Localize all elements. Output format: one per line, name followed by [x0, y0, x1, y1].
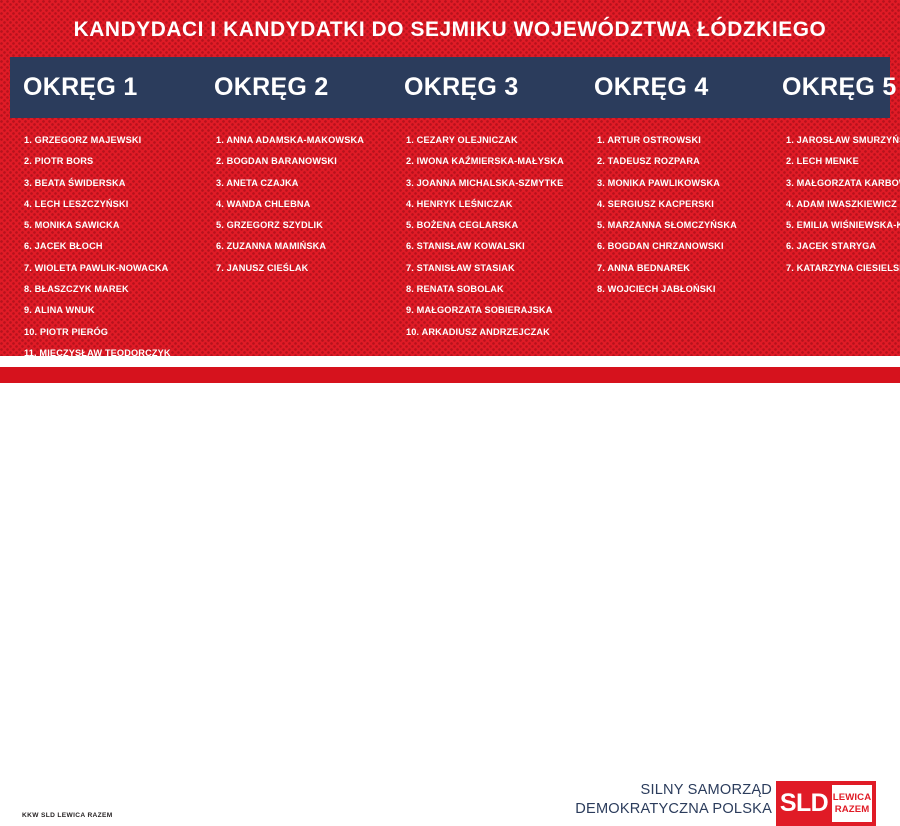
slogan-line-1: SILNY SAMORZĄD [575, 781, 772, 800]
candidate-entry: 6. JACEK BŁOCH [24, 236, 202, 257]
district-header-label: OKRĘG 5 [782, 73, 897, 102]
district-header-row: OKRĘG 1 OKRĘG 2 OKRĘG 3 OKRĘG 4 OKRĘG 5 [10, 57, 890, 118]
sld-lewica-razem-logo: SLD LEWICA RAZEM [776, 781, 876, 826]
district-header-cell-2: OKRĘG 2 [201, 73, 392, 102]
candidate-entry: 9. MAŁGORZATA SOBIERAJSKA [406, 300, 584, 321]
candidate-entry: 3. MAŁGORZATA KARBOWIAK [786, 173, 900, 194]
candidate-entry: 6. BOGDAN CHRZANOWSKI [597, 236, 775, 257]
candidate-column-3: 1. CEZARY OLEJNICZAK 2. IWONA KAŹMIERSKA… [394, 130, 584, 352]
candidate-entry: 5. EMILIA WIŚNIEWSKA-KABAT [786, 215, 900, 236]
candidate-entry: 2. PIOTR BORS [24, 151, 202, 172]
candidate-column-5: 1. JAROSŁAW SMURZYŃSKI 2. LECH MENKE 3. … [775, 130, 900, 352]
campaign-poster: KANDYDACI I KANDYDATKI DO SEJMIKU WOJEWÓ… [0, 0, 900, 449]
district-header-cell-3: OKRĘG 3 [392, 73, 582, 102]
candidate-entry: 3. JOANNA MICHALSKA-SZMYTKE [406, 173, 584, 194]
candidate-entry: 4. SERGIUSZ KACPERSKI [597, 194, 775, 215]
candidate-entry: 1. CEZARY OLEJNICZAK [406, 130, 584, 151]
candidate-entry: 6. JACEK STARYGA [786, 236, 900, 257]
candidate-entry: 7. JANUSZ CIEŚLAK [216, 258, 394, 279]
poster-title-bar: KANDYDACI I KANDYDATKI DO SEJMIKU WOJEWÓ… [0, 8, 900, 50]
candidate-entry: 6. STANISŁAW KOWALSKI [406, 236, 584, 257]
candidate-entry: 2. IWONA KAŹMIERSKA-MAŁYSKA [406, 151, 584, 172]
candidate-entry: 5. BOŻENA CEGLARSKA [406, 215, 584, 236]
committee-disclaimer: KKW SLD LEWICA RAZEM [22, 812, 113, 819]
campaign-slogan: SILNY SAMORZĄD DEMOKRATYCZNA POLSKA [575, 781, 772, 819]
candidate-entry: 1. ARTUR OSTROWSKI [597, 130, 775, 151]
logo-razem-text: RAZEM [835, 804, 870, 816]
red-accent-stripe [0, 367, 900, 383]
logo-lewica-razem-box: LEWICA RAZEM [832, 785, 872, 822]
candidate-entry: 4. LECH LESZCZYŃSKI [24, 194, 202, 215]
candidate-entry: 7. KATARZYNA CIESIELSKA [786, 258, 900, 279]
candidate-entry: 7. ANNA BEDNAREK [597, 258, 775, 279]
candidate-entry: 1. GRZEGORZ MAJEWSKI [24, 130, 202, 151]
candidate-entry: 9. ALINA WNUK [24, 300, 202, 321]
white-separator [0, 356, 900, 367]
logo-sld-text: SLD [776, 781, 832, 826]
candidate-entry: 5. GRZEGORZ SZYDLIK [216, 215, 394, 236]
candidate-entry: 1. ANNA ADAMSKA-MAKOWSKA [216, 130, 394, 151]
district-header-label: OKRĘG 2 [214, 73, 329, 102]
candidate-column-1: 1. GRZEGORZ MAJEWSKI 2. PIOTR BORS 3. BE… [10, 130, 202, 352]
candidate-entry: 5. MARZANNA SŁOMCZYŃSKA [597, 215, 775, 236]
candidate-entry: 4. WANDA CHLEBNA [216, 194, 394, 215]
candidate-entry: 7. STANISŁAW STASIAK [406, 258, 584, 279]
candidate-entry: 3. ANETA CZAJKA [216, 173, 394, 194]
candidate-entry: 3. MONIKA PAWLIKOWSKA [597, 173, 775, 194]
candidate-entry: 6. ZUZANNA MAMIŃSKA [216, 236, 394, 257]
candidate-entry: 2. BOGDAN BARANOWSKI [216, 151, 394, 172]
candidate-column-4: 1. ARTUR OSTROWSKI 2. TADEUSZ ROZPARA 3.… [584, 130, 775, 352]
district-header-cell-1: OKRĘG 1 [10, 73, 201, 102]
logo-lewica-text: LEWICA [833, 792, 871, 804]
poster-footer: KKW SLD LEWICA RAZEM SILNY SAMORZĄD DEMO… [0, 383, 900, 449]
candidate-entry: 2. TADEUSZ ROZPARA [597, 151, 775, 172]
candidate-entry: 4. ADAM IWASZKIEWICZ [786, 194, 900, 215]
candidate-entry: 1. JAROSŁAW SMURZYŃSKI [786, 130, 900, 151]
district-header-cell-4: OKRĘG 4 [582, 73, 772, 102]
candidate-entry: 8. BŁASZCZYK MAREK [24, 279, 202, 300]
candidate-entry: 4. HENRYK LEŚNICZAK [406, 194, 584, 215]
candidate-column-2: 1. ANNA ADAMSKA-MAKOWSKA 2. BOGDAN BARAN… [202, 130, 394, 352]
candidate-entry: 10. ARKADIUSZ ANDRZEJCZAK [406, 322, 584, 343]
candidate-entry: 3. BEATA ŚWIDERSKA [24, 173, 202, 194]
candidate-columns: 1. GRZEGORZ MAJEWSKI 2. PIOTR BORS 3. BE… [10, 130, 890, 352]
candidate-entry: 2. LECH MENKE [786, 151, 900, 172]
candidate-entry: 10. PIOTR PIERÓG [24, 322, 202, 343]
candidate-entry: 5. MONIKA SAWICKA [24, 215, 202, 236]
slogan-line-2: DEMOKRATYCZNA POLSKA [575, 800, 772, 819]
district-header-cell-5: OKRĘG 5 [772, 73, 900, 102]
district-header-label: OKRĘG 3 [404, 73, 519, 102]
candidate-entry: 8. WOJCIECH JABŁOŃSKI [597, 279, 775, 300]
candidate-entry: 8. RENATA SOBOLAK [406, 279, 584, 300]
district-header-label: OKRĘG 4 [594, 73, 709, 102]
poster-title: KANDYDACI I KANDYDATKI DO SEJMIKU WOJEWÓ… [74, 17, 827, 42]
district-header-label: OKRĘG 1 [23, 73, 138, 102]
candidate-entry: 7. WIOLETA PAWLIK-NOWACKA [24, 258, 202, 279]
